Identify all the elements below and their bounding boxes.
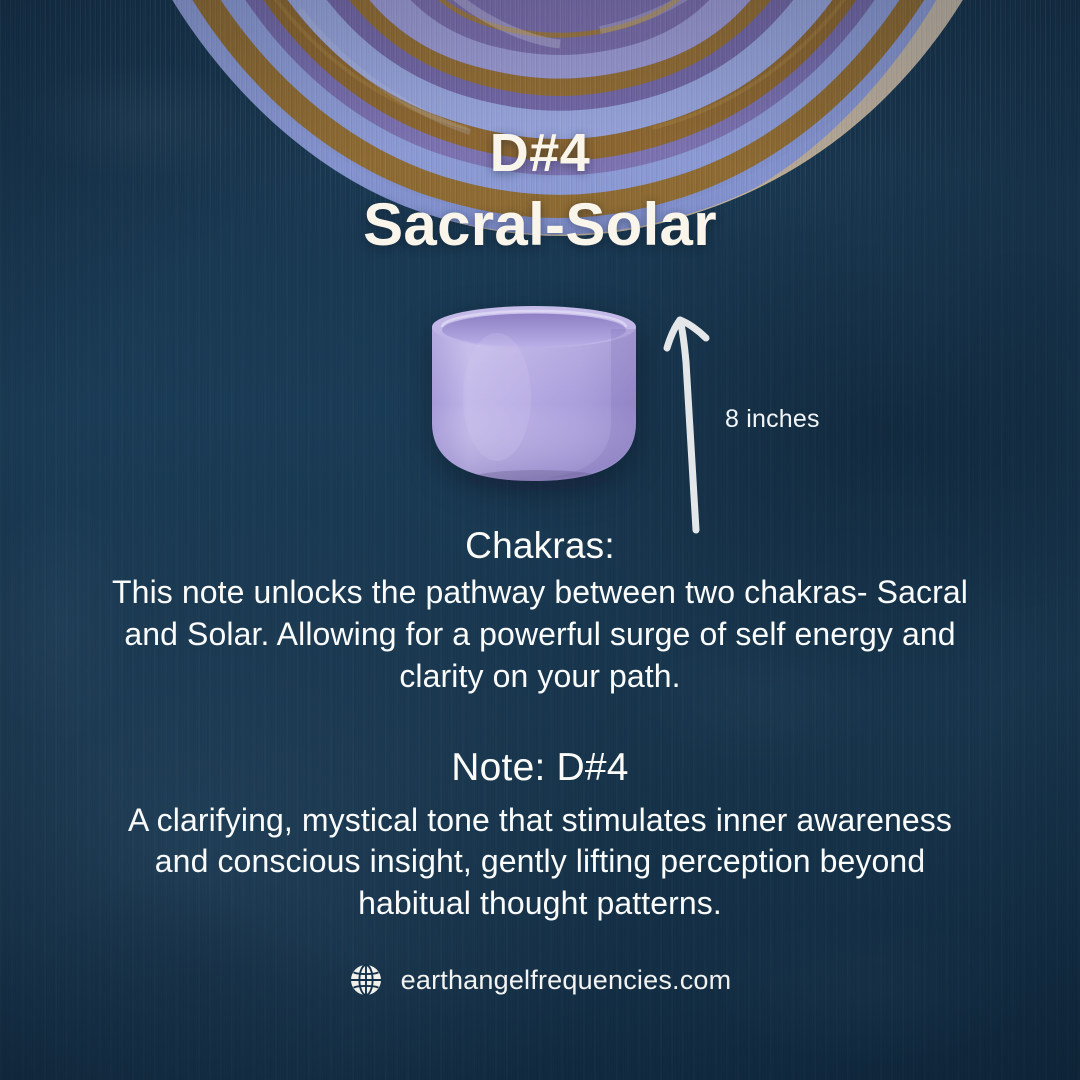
chakras-heading: Chakras: — [0, 524, 1080, 568]
title-chakra-pair: Sacral-Solar — [0, 190, 1080, 261]
chakras-section: Chakras: This note unlocks the pathway b… — [0, 524, 1080, 697]
sound-bowl-info-card: D#4 Sacral-Solar — [0, 0, 1080, 1080]
note-body: A clarifying, mystical tone that stimula… — [120, 800, 960, 925]
crystal-singing-bowl-image — [425, 305, 643, 490]
footer: earthangelfrequencies.com — [0, 963, 1080, 997]
note-heading: Note: D#4 — [0, 745, 1080, 792]
measurement-label: 8 inches — [725, 405, 820, 434]
globe-icon — [349, 963, 383, 997]
page-title: D#4 Sacral-Solar — [0, 126, 1080, 261]
footer-url: earthangelfrequencies.com — [401, 965, 732, 996]
chakras-body: This note unlocks the pathway between tw… — [110, 572, 970, 697]
title-note: D#4 — [0, 126, 1080, 180]
note-section: Note: D#4 A clarifying, mystical tone th… — [0, 745, 1080, 925]
curved-up-arrow-icon — [660, 300, 730, 535]
